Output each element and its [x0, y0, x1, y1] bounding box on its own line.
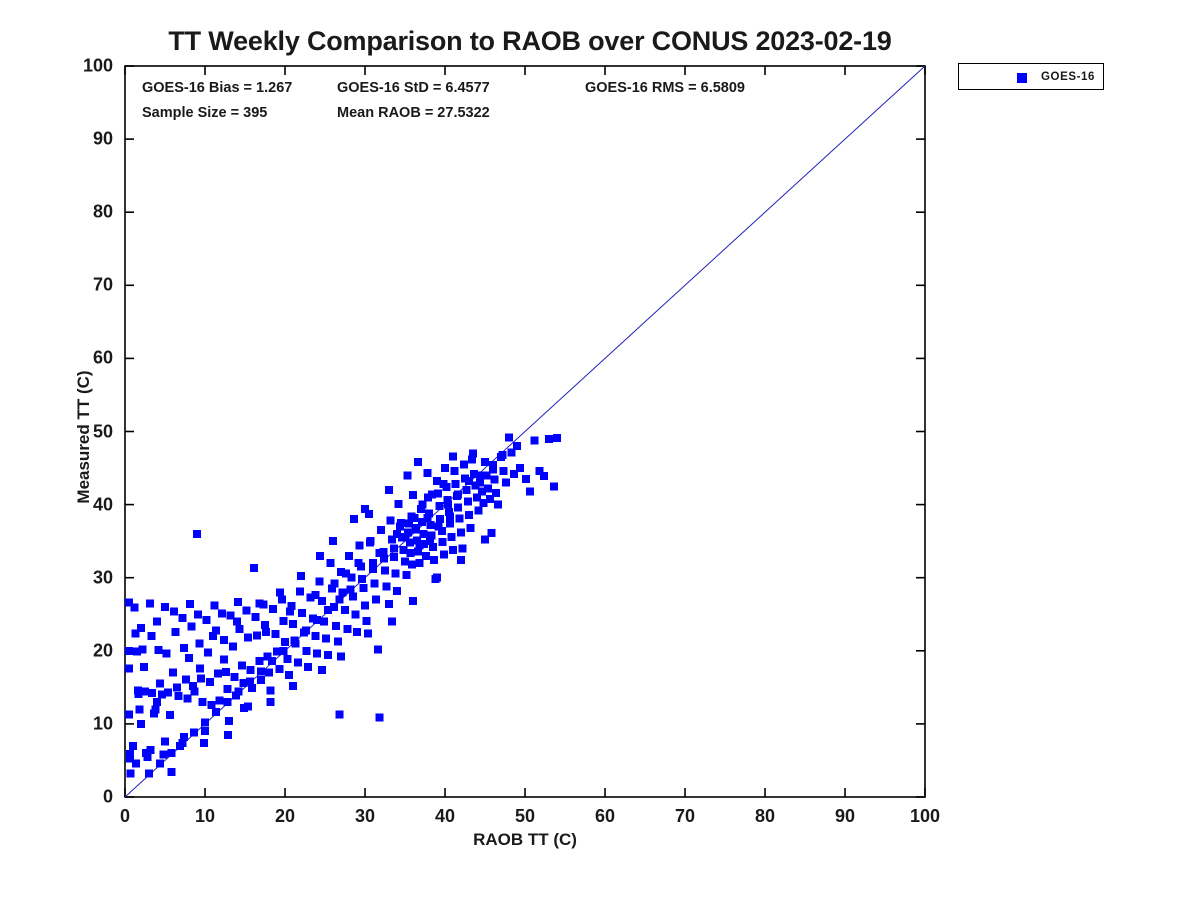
data-point: [499, 467, 507, 475]
x-tick-label: 50: [515, 806, 535, 827]
data-point: [125, 664, 133, 672]
data-point: [185, 654, 193, 662]
data-point: [164, 688, 172, 696]
x-tick-label: 80: [755, 806, 775, 827]
data-point: [244, 702, 252, 710]
data-point: [464, 498, 472, 506]
data-point: [235, 688, 243, 696]
data-point: [364, 629, 372, 637]
data-point: [298, 609, 306, 617]
data-point: [275, 665, 283, 673]
data-point: [151, 705, 159, 713]
data-point: [489, 461, 497, 469]
data-point: [209, 632, 217, 640]
data-point: [481, 536, 489, 544]
data-point: [423, 514, 431, 522]
data-point: [201, 718, 209, 726]
data-point: [225, 717, 233, 725]
data-point: [147, 632, 155, 640]
data-point: [193, 530, 201, 538]
data-point: [403, 571, 411, 579]
data-point: [262, 628, 270, 636]
data-point: [127, 770, 135, 778]
data-point: [435, 502, 443, 510]
data-point: [476, 471, 484, 479]
data-point: [296, 588, 304, 596]
data-point: [179, 614, 187, 622]
data-point: [415, 559, 423, 567]
y-tick-label: 10: [47, 713, 113, 734]
data-point: [201, 727, 209, 735]
data-point: [459, 544, 467, 552]
y-tick-label: 0: [47, 787, 113, 808]
y-tick-label: 100: [47, 56, 113, 77]
data-point: [163, 650, 171, 658]
data-point: [238, 661, 246, 669]
data-point: [381, 566, 389, 574]
data-point: [269, 605, 277, 613]
data-point: [433, 574, 441, 582]
data-point: [316, 552, 324, 560]
data-point: [481, 458, 489, 466]
data-point: [401, 533, 409, 541]
data-point: [383, 582, 391, 590]
reference-line-one-to-one: [125, 66, 925, 797]
data-point: [440, 550, 448, 558]
data-point: [159, 751, 167, 759]
data-point: [289, 620, 297, 628]
data-point: [447, 533, 455, 541]
data-point: [455, 514, 463, 522]
data-point: [491, 476, 499, 484]
data-point: [540, 472, 548, 480]
data-point: [196, 664, 204, 672]
data-point: [430, 556, 438, 564]
data-point: [494, 501, 502, 509]
data-point: [337, 653, 345, 661]
data-point: [220, 656, 228, 664]
data-point: [327, 559, 335, 567]
data-point: [141, 688, 149, 696]
data-point: [393, 587, 401, 595]
legend-marker-goes16: [1017, 73, 1027, 83]
data-point: [419, 530, 427, 538]
data-point: [412, 524, 420, 532]
data-point: [212, 708, 220, 716]
data-point: [303, 647, 311, 655]
data-point: [186, 600, 194, 608]
data-point: [255, 599, 263, 607]
data-point: [180, 644, 188, 652]
data-point: [545, 435, 553, 443]
data-point: [322, 634, 330, 642]
data-point: [135, 705, 143, 713]
data-point: [428, 490, 436, 498]
data-point: [341, 606, 349, 614]
data-point: [243, 607, 251, 615]
data-point: [131, 604, 139, 612]
data-point: [334, 637, 342, 645]
data-point: [207, 701, 215, 709]
data-point: [146, 599, 154, 607]
data-point: [278, 596, 286, 604]
x-tick-label: 40: [435, 806, 455, 827]
data-point: [347, 585, 355, 593]
data-point: [526, 487, 534, 495]
data-point: [342, 569, 350, 577]
data-point: [385, 600, 393, 608]
data-point: [194, 610, 202, 618]
data-point: [271, 630, 279, 638]
data-point: [250, 564, 258, 572]
y-tick-label: 80: [47, 202, 113, 223]
y-tick-label: 90: [47, 129, 113, 150]
data-point: [166, 711, 174, 719]
data-point: [451, 467, 459, 475]
data-point: [331, 580, 339, 588]
data-point: [359, 584, 367, 592]
x-tick-label: 70: [675, 806, 695, 827]
data-point: [302, 626, 310, 634]
data-point: [229, 642, 237, 650]
data-point: [283, 655, 291, 663]
data-point: [454, 490, 462, 498]
data-point: [372, 596, 380, 604]
data-point: [148, 689, 156, 697]
y-axis-label: Measured TT (C): [74, 237, 94, 637]
data-point: [335, 710, 343, 718]
data-point: [137, 720, 145, 728]
x-tick-label: 100: [910, 806, 940, 827]
data-point: [375, 549, 383, 557]
scatter-series-goes-16: [125, 433, 561, 777]
data-point: [446, 512, 454, 520]
data-point: [324, 651, 332, 659]
data-point: [311, 632, 319, 640]
data-point: [199, 698, 207, 706]
data-point: [393, 530, 401, 538]
chart-figure: TT Weekly Comparison to RAOB over CONUS …: [0, 0, 1200, 900]
data-point: [200, 739, 208, 747]
x-tick-label: 90: [835, 806, 855, 827]
data-point: [444, 501, 452, 509]
x-tick-label: 10: [195, 806, 215, 827]
data-point: [147, 746, 155, 754]
data-point: [457, 528, 465, 536]
data-point: [366, 539, 374, 547]
data-point: [215, 697, 223, 705]
data-point: [170, 607, 178, 615]
data-point: [318, 666, 326, 674]
data-point: [436, 515, 444, 523]
x-tick-label: 20: [275, 806, 295, 827]
data-point: [294, 658, 302, 666]
data-point: [313, 650, 321, 658]
data-point: [408, 561, 416, 569]
data-point: [391, 569, 399, 577]
data-point: [469, 449, 477, 457]
data-point: [439, 480, 447, 488]
data-point: [339, 588, 347, 596]
data-point: [167, 768, 175, 776]
data-point: [211, 601, 219, 609]
y-tick-label: 20: [47, 640, 113, 661]
legend: GOES-16: [958, 63, 1104, 90]
data-point: [197, 675, 205, 683]
data-point: [223, 685, 231, 693]
data-point: [206, 678, 214, 686]
data-point: [505, 433, 513, 441]
data-point: [374, 645, 382, 653]
data-point: [467, 524, 475, 532]
data-point: [279, 647, 287, 655]
data-point: [285, 671, 293, 679]
data-point: [475, 506, 483, 514]
data-point: [397, 519, 405, 527]
data-point: [223, 698, 231, 706]
data-point: [268, 657, 276, 665]
data-point: [457, 556, 465, 564]
data-point: [129, 742, 137, 750]
data-point: [387, 517, 395, 525]
data-point: [426, 537, 434, 545]
data-point: [375, 713, 383, 721]
data-point: [409, 597, 417, 605]
data-point: [395, 500, 403, 508]
data-point: [460, 460, 468, 468]
data-point: [449, 452, 457, 460]
data-point: [234, 598, 242, 606]
data-point: [156, 759, 164, 767]
data-point: [324, 606, 332, 614]
data-point: [385, 486, 393, 494]
data-point: [407, 549, 415, 557]
data-point: [153, 698, 161, 706]
data-point: [161, 603, 169, 611]
data-point: [439, 538, 447, 546]
x-axis-label: RAOB TT (C): [125, 830, 925, 850]
data-point: [279, 617, 287, 625]
data-point: [224, 731, 232, 739]
data-point: [414, 458, 422, 466]
data-point: [246, 678, 254, 686]
plot-area: [0, 0, 1200, 900]
data-point: [253, 631, 261, 639]
data-point: [502, 479, 510, 487]
data-point: [155, 646, 163, 654]
data-point: [132, 759, 140, 767]
data-point: [516, 464, 524, 472]
data-point: [171, 628, 179, 636]
data-point: [465, 511, 473, 519]
data-point: [175, 692, 183, 700]
data-point: [451, 480, 459, 488]
data-point: [409, 491, 417, 499]
data-point: [183, 694, 191, 702]
data-point: [361, 601, 369, 609]
data-point: [531, 436, 539, 444]
data-point: [441, 464, 449, 472]
data-point: [499, 451, 507, 459]
data-point: [349, 593, 357, 601]
data-point: [125, 710, 133, 718]
data-point: [214, 669, 222, 677]
data-point: [435, 523, 443, 531]
data-point: [291, 637, 299, 645]
data-point: [281, 638, 289, 646]
data-point: [125, 647, 133, 655]
data-point: [446, 520, 454, 528]
data-point: [522, 475, 530, 483]
data-point: [218, 610, 226, 618]
data-point: [257, 667, 265, 675]
data-point: [422, 552, 430, 560]
x-tick-label: 60: [595, 806, 615, 827]
data-point: [335, 596, 343, 604]
data-point: [332, 622, 340, 630]
data-point: [233, 618, 241, 626]
data-point: [187, 623, 195, 631]
data-point: [220, 636, 228, 644]
data-point: [484, 485, 492, 493]
data-point: [190, 729, 198, 737]
data-point: [286, 607, 294, 615]
data-point: [203, 616, 211, 624]
data-point: [355, 542, 363, 550]
data-point: [156, 680, 164, 688]
data-point: [449, 546, 457, 554]
data-point: [369, 565, 377, 573]
data-point: [388, 618, 396, 626]
data-point: [405, 520, 413, 528]
data-point: [371, 580, 379, 588]
data-point: [297, 572, 305, 580]
data-point: [267, 686, 275, 694]
data-point: [415, 542, 423, 550]
data-point: [454, 504, 462, 512]
data-point: [173, 683, 181, 691]
data-point: [401, 558, 409, 566]
data-point: [419, 501, 427, 509]
data-point: [137, 624, 145, 632]
data-point: [231, 673, 239, 681]
data-point: [191, 688, 199, 696]
data-point: [465, 477, 473, 485]
data-point: [463, 486, 471, 494]
data-point: [222, 668, 230, 676]
data-point: [329, 537, 337, 545]
x-tick-label: 30: [355, 806, 375, 827]
data-point: [182, 675, 190, 683]
data-point: [403, 471, 411, 479]
data-point: [492, 489, 500, 497]
data-point: [145, 770, 153, 778]
data-point: [343, 625, 351, 633]
data-point: [167, 749, 175, 757]
data-point: [399, 546, 407, 554]
data-point: [390, 553, 398, 561]
data-point: [350, 515, 358, 523]
data-point: [179, 739, 187, 747]
data-point: [257, 676, 265, 684]
data-point: [247, 666, 255, 674]
data-point: [345, 552, 353, 560]
data-point: [140, 663, 148, 671]
data-point: [353, 628, 361, 636]
data-point: [358, 575, 366, 583]
data-point: [235, 625, 243, 633]
data-point: [311, 591, 319, 599]
data-point: [255, 657, 263, 665]
data-point: [423, 469, 431, 477]
data-point: [244, 634, 252, 642]
data-point: [204, 648, 212, 656]
data-point: [161, 737, 169, 745]
data-point: [315, 577, 323, 585]
data-point: [139, 645, 147, 653]
data-point: [553, 434, 561, 442]
data-point: [407, 512, 415, 520]
x-tick-label: 0: [120, 806, 130, 827]
data-point: [276, 588, 284, 596]
data-point: [169, 669, 177, 677]
data-point: [476, 479, 484, 487]
data-point: [251, 613, 259, 621]
data-point: [355, 559, 363, 567]
data-point: [363, 617, 371, 625]
data-point: [195, 639, 203, 647]
data-point: [550, 482, 558, 490]
data-point: [265, 669, 273, 677]
data-point: [361, 505, 369, 513]
data-point: [304, 663, 312, 671]
data-point: [377, 526, 385, 534]
data-point: [153, 618, 161, 626]
legend-label-goes16: GOES-16: [1041, 71, 1095, 83]
data-point: [427, 521, 435, 529]
data-point: [390, 544, 398, 552]
data-point: [320, 618, 328, 626]
data-point: [289, 682, 297, 690]
data-point: [351, 610, 359, 618]
data-point: [313, 616, 321, 624]
data-point: [513, 442, 521, 450]
data-point: [267, 698, 275, 706]
